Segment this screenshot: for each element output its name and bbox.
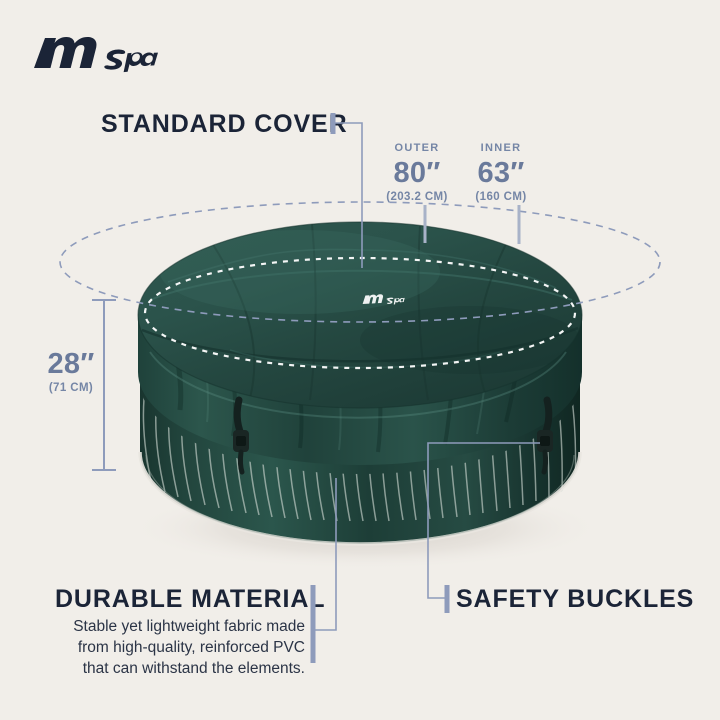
product-illustration [0, 0, 720, 720]
infographic-canvas: STANDARD COVER DURABLE MATERIAL SAFETY B… [0, 0, 720, 720]
spa-cover-top [138, 222, 582, 408]
height-dimension-line [92, 300, 116, 470]
